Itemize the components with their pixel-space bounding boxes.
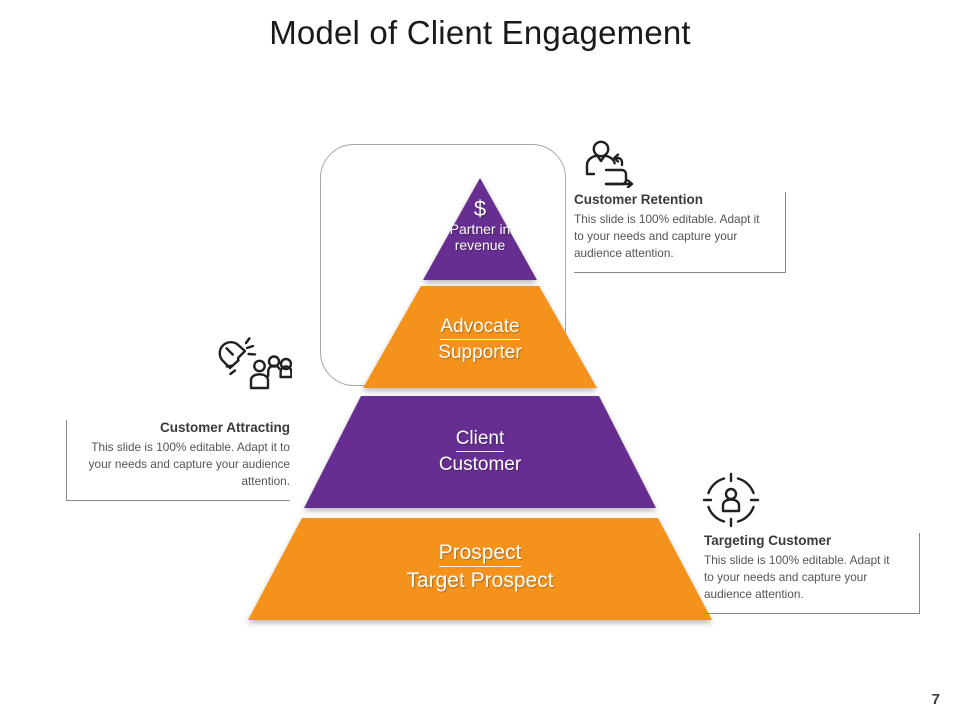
- page-number: 7: [932, 691, 940, 708]
- pyramid-tier-apex-label: $ Partner in revenue: [408, 196, 552, 254]
- callout-targeting-customer[interactable]: Targeting Customer This slide is 100% ed…: [704, 533, 920, 614]
- callout-title: Customer Attracting: [81, 420, 290, 435]
- callout-body: This slide is 100% editable. Adapt it to…: [81, 439, 290, 490]
- callout-body: This slide is 100% editable. Adapt it to…: [704, 552, 902, 603]
- dollar-sign-icon: $: [408, 196, 552, 221]
- callout-title: Customer Retention: [574, 192, 771, 207]
- client-line-1: Client: [456, 428, 505, 452]
- magnet-people-icon: [216, 330, 292, 397]
- client-line-2: Customer: [400, 454, 560, 476]
- apex-line-2: revenue: [408, 238, 552, 254]
- target-person-icon: [702, 472, 760, 533]
- pyramid-tier-client-label: Client Customer: [400, 428, 560, 475]
- page-title: Model of Client Engagement: [0, 14, 960, 52]
- callout-body: This slide is 100% editable. Adapt it to…: [574, 211, 770, 262]
- customer-retention-icon: [584, 140, 638, 193]
- advocate-line-1: Advocate: [440, 316, 519, 340]
- pyramid-tier-prospect-label: Prospect Target Prospect: [370, 541, 590, 593]
- prospect-line-2: Target Prospect: [370, 569, 590, 593]
- pyramid-tier-advocate-label: Advocate Supporter: [400, 316, 560, 363]
- callout-customer-retention[interactable]: Customer Retention This slide is 100% ed…: [574, 192, 786, 273]
- prospect-line-1: Prospect: [439, 541, 522, 567]
- advocate-line-2: Supporter: [400, 342, 560, 364]
- callout-customer-attracting[interactable]: Customer Attracting This slide is 100% e…: [66, 420, 290, 501]
- callout-title: Targeting Customer: [704, 533, 905, 548]
- apex-line-1: Partner in: [408, 222, 552, 238]
